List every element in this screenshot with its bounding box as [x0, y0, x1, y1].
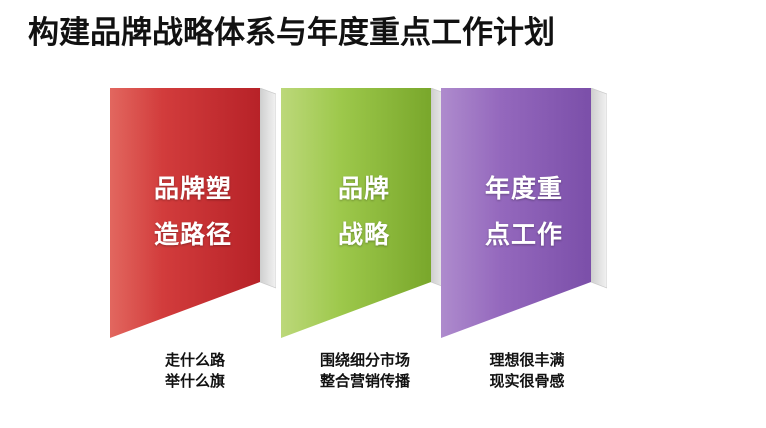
page-title: 构建品牌战略体系与年度重点工作计划 [28, 12, 738, 54]
slide-canvas: 构建品牌战略体系与年度重点工作计划 品牌塑 造路径 [0, 0, 766, 428]
caption-line1: 走什么路 [100, 350, 290, 371]
caption-line2: 举什么旗 [100, 371, 290, 392]
shape-brand-strategy[interactable]: 品牌 战略 [281, 88, 447, 338]
shape-red-parallelogram-icon [110, 88, 276, 338]
shape-brand-shaping-path[interactable]: 品牌塑 造路径 [110, 88, 276, 338]
shape-purple-parallelogram-icon [441, 88, 607, 338]
caption-annual-key-work: 理想很丰满 现实很骨感 [432, 350, 622, 392]
shape-annual-key-work[interactable]: 年度重 点工作 [441, 88, 607, 338]
shape-green-parallelogram-icon [281, 88, 447, 338]
caption-line1: 理想很丰满 [432, 350, 622, 371]
caption-line2: 现实很骨感 [432, 371, 622, 392]
caption-brand-shaping-path: 走什么路 举什么旗 [100, 350, 290, 392]
